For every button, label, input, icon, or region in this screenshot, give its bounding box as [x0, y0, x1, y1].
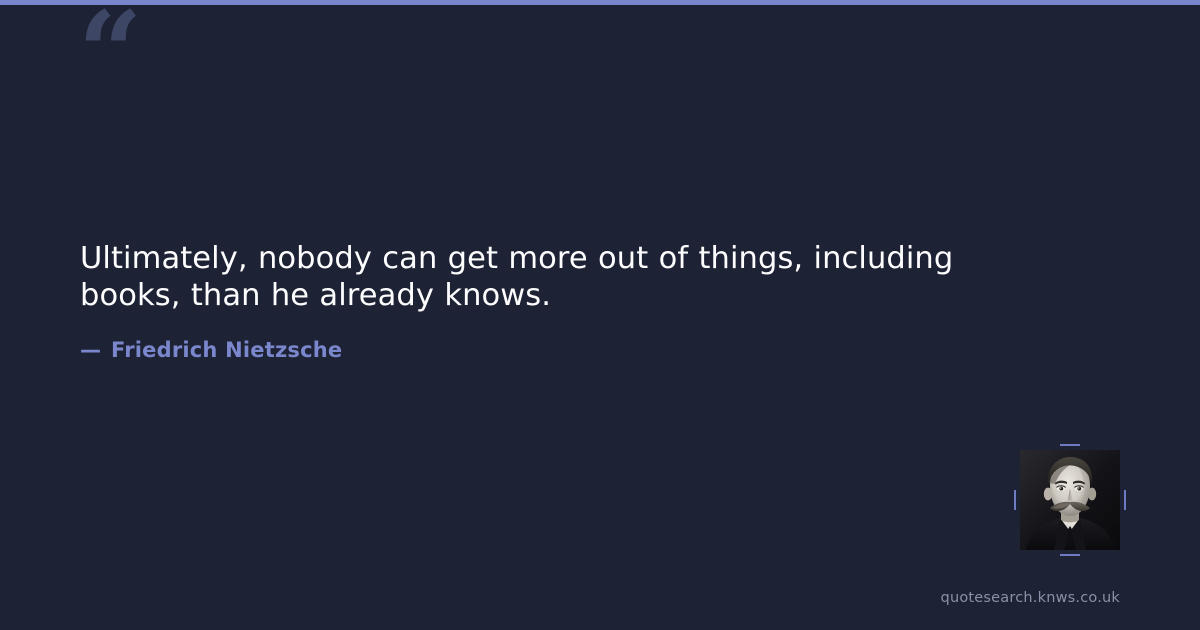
quote-card: “ Ultimately, nobody can get more out of… — [0, 0, 1200, 630]
author-attribution: — Friedrich Nietzsche — [80, 338, 342, 362]
portrait-photo — [1020, 450, 1120, 550]
portrait-frame-tick-bottom — [1060, 554, 1080, 556]
footer-site-url: quotesearch.knws.co.uk — [941, 590, 1120, 606]
author-dash: — — [80, 338, 101, 362]
author-portrait — [1020, 450, 1120, 550]
portrait-frame-tick-right — [1124, 490, 1126, 510]
quote-block: Ultimately, nobody can get more out of t… — [80, 240, 1040, 314]
author-name: Friedrich Nietzsche — [111, 338, 342, 362]
quote-text: Ultimately, nobody can get more out of t… — [80, 240, 1040, 314]
opening-quote-icon: “ — [78, 0, 140, 110]
portrait-frame-tick-left — [1014, 490, 1016, 510]
portrait-frame-tick-top — [1060, 444, 1080, 446]
top-accent-bar — [0, 0, 1200, 5]
